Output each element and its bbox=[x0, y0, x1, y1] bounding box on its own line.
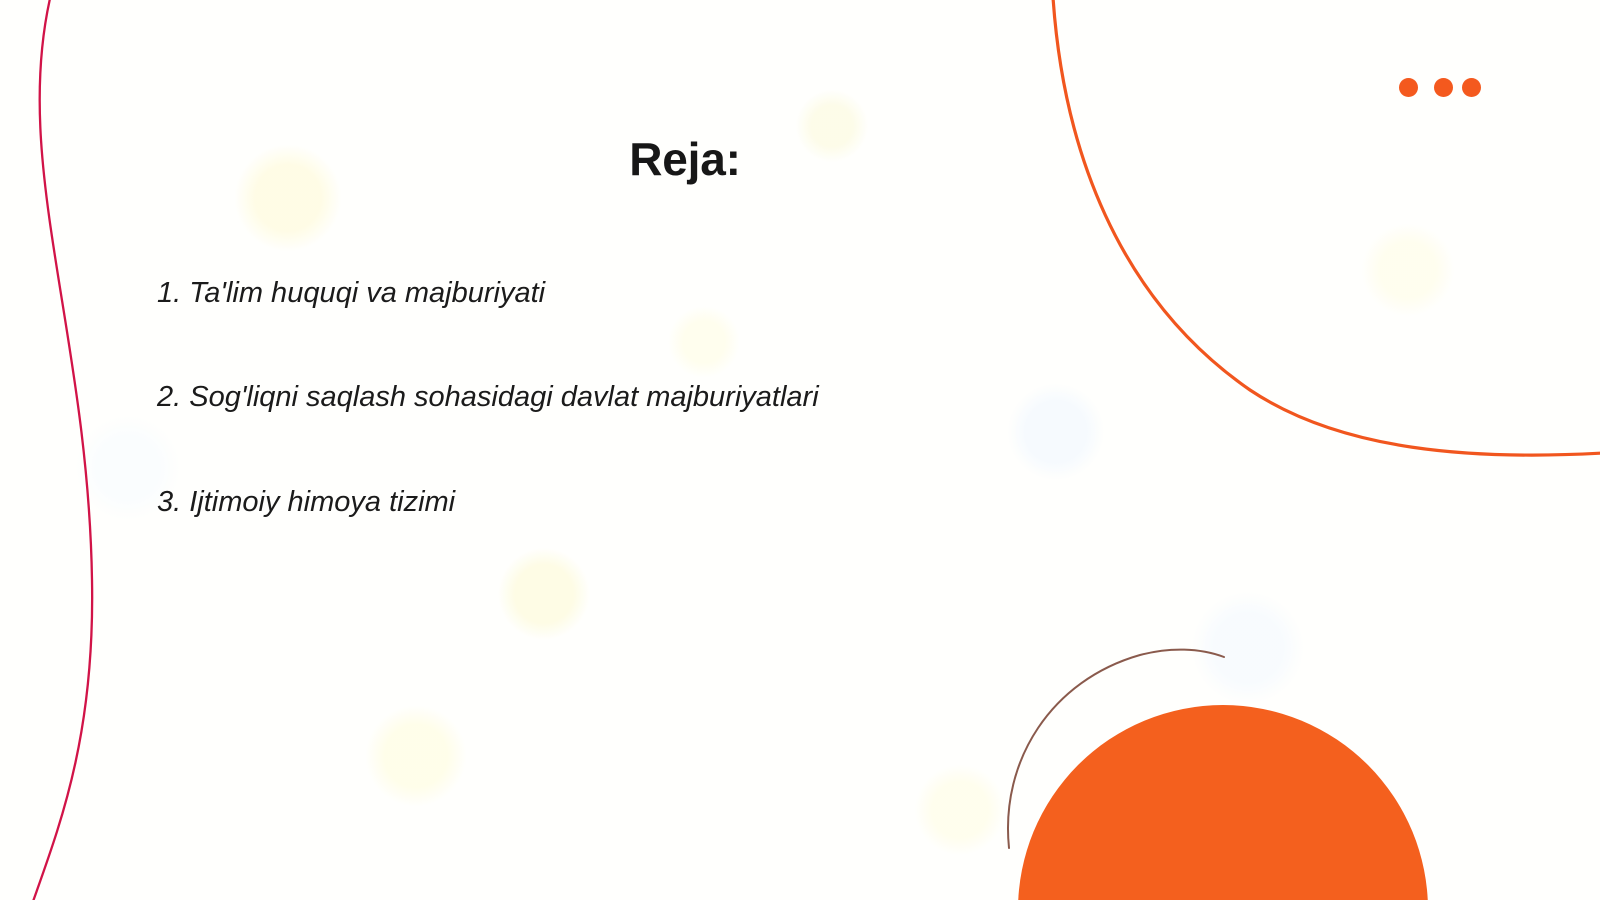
dot-icon-3 bbox=[1462, 78, 1481, 97]
presentation-slide: Reja: 1. Ta'lim huquqi va majburiyati 2.… bbox=[0, 0, 1600, 900]
orange-circle-decoration bbox=[1018, 705, 1428, 900]
dot-icon-2 bbox=[1434, 78, 1453, 97]
list-item: 1. Ta'lim huquqi va majburiyati bbox=[157, 275, 1157, 311]
page-title: Reja: bbox=[0, 132, 1370, 186]
dot-icon-1 bbox=[1399, 78, 1418, 97]
agenda-list: 1. Ta'lim huquqi va majburiyati 2. Sog'l… bbox=[157, 275, 1157, 520]
list-item: 2. Sog'liqni saqlash sohasidagi davlat m… bbox=[157, 379, 1157, 415]
list-item: 3. Ijtimoiy himoya tizimi bbox=[157, 484, 1157, 520]
